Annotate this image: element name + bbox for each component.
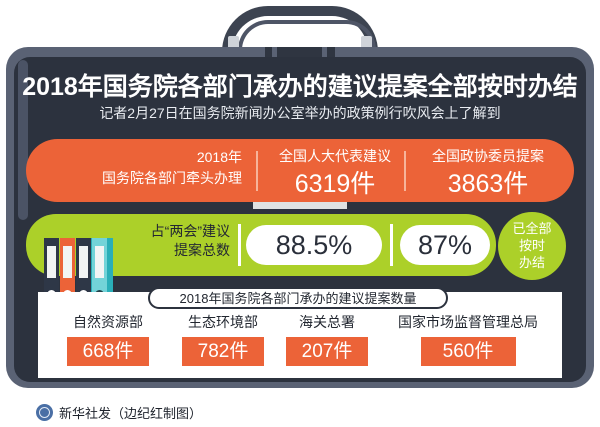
band-connector-strip <box>253 202 347 209</box>
footer-credit: 新华社发（边纪红制图） <box>36 402 202 422</box>
orange-lead-line1: 2018年 <box>197 147 242 167</box>
green-divider-1 <box>238 224 241 266</box>
orange-stat-cppcc-value: 3863件 <box>414 164 562 200</box>
orange-stat-cppcc: 全国政协委员提案 3863件 <box>414 139 562 202</box>
status-badge: 已全部 按时 办结 <box>498 212 566 280</box>
department-value-2: 207件 <box>286 337 368 366</box>
orange-stat-npc-label: 全国人大代表建议 <box>266 146 404 166</box>
department-value-0: 668件 <box>67 337 149 366</box>
green-divider-2 <box>390 224 393 266</box>
department-item-3: 国家市场监督管理总局 560件 <box>378 312 558 366</box>
handle-bar <box>222 6 378 52</box>
orange-stat-cppcc-label: 全国政协委员提案 <box>414 146 562 166</box>
infographic-canvas: 2018年国务院各部门承办的建议提案全部按时办结 记者2月27日在国务院新闻办公… <box>0 0 600 427</box>
status-badge-line3: 办结 <box>498 254 566 271</box>
orange-divider-1 <box>256 151 258 191</box>
department-name-3: 国家市场监督管理总局 <box>378 312 558 332</box>
page-subtitle: 记者2月27日在国务院新闻办公室举办的政策例行吹风会上了解到 <box>0 103 600 123</box>
orange-stat-npc-value: 6319件 <box>266 164 404 200</box>
orange-divider-2 <box>404 151 406 191</box>
department-name-2: 海关总署 <box>272 312 382 332</box>
department-name-1: 生态环境部 <box>163 312 283 332</box>
department-value-1: 782件 <box>182 337 264 366</box>
department-value-3: 560件 <box>421 337 516 366</box>
department-name-0: 自然资源部 <box>48 312 168 332</box>
xinhua-logo-icon <box>36 404 53 421</box>
percent-pill-cppcc: 87% <box>400 225 490 265</box>
percent-pill-npc: 88.5% <box>246 225 382 265</box>
status-badge-line1: 已全部 <box>498 220 566 237</box>
footer-credit-text: 新华社发（边纪红制图） <box>59 403 202 422</box>
page-title: 2018年国务院各部门承办的建议提案全部按时办结 <box>0 67 600 103</box>
panel-title: 2018年国务院各部门承办的建议提案数量 <box>148 287 448 309</box>
orange-lead-label: 2018年 国务院各部门牵头办理 <box>66 139 256 202</box>
orange-stat-band: 2018年 国务院各部门牵头办理 全国人大代表建议 6319件 全国政协委员提案… <box>26 139 574 202</box>
department-item-1: 生态环境部 782件 <box>163 312 283 366</box>
orange-lead-line2: 国务院各部门牵头办理 <box>102 168 242 188</box>
orange-stat-npc: 全国人大代表建议 6319件 <box>266 139 404 202</box>
status-badge-line2: 按时 <box>498 237 566 254</box>
department-item-2: 海关总署 207件 <box>272 312 382 366</box>
department-item-0: 自然资源部 668件 <box>48 312 168 366</box>
